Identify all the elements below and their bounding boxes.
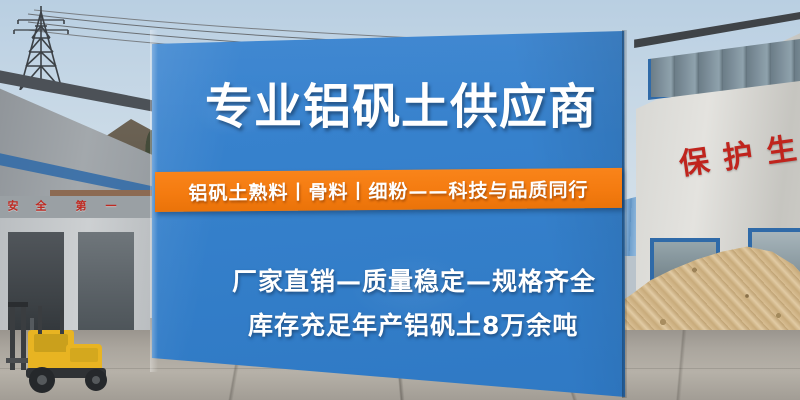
headline-text: 专业铝矾土供应商 bbox=[205, 83, 597, 131]
workshop-slogan-char-4: 一 bbox=[104, 200, 115, 213]
subline-2-text: 库存充足年产铝矾土8万余吨 bbox=[248, 306, 578, 342]
workshop-slogan-char-3: 第 bbox=[74, 200, 85, 213]
banner-stage: 安 全 第 一 保护生态 bbox=[0, 0, 800, 400]
forklift-icon bbox=[4, 300, 124, 396]
orange-highlight-bar: 铝矾土熟料丨骨料丨细粉——科技与品质同行 bbox=[155, 168, 622, 212]
orange-bar-text: 铝矾土熟料丨骨料丨细粉——科技与品质同行 bbox=[155, 168, 622, 212]
workshop-slogan-char-2: 全 bbox=[34, 200, 45, 213]
workshop-slogan-char-1: 安 bbox=[6, 200, 17, 213]
subline-1-text: 厂家直销—质量稳定—规格齐全 bbox=[232, 262, 596, 298]
